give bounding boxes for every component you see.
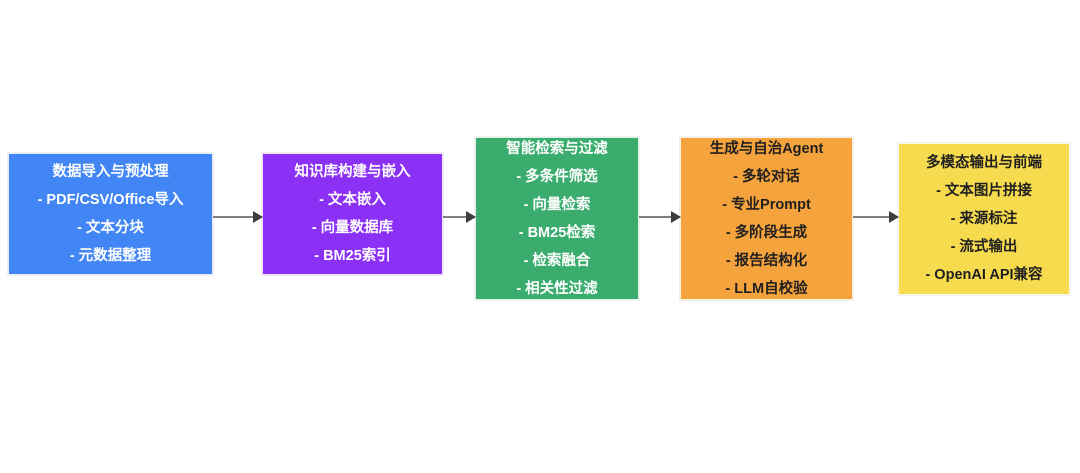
flow-node-multimodal-output[interactable]: 多模态输出与前端- 文本图片拼接- 来源标注- 流式输出- OpenAI API… [898, 143, 1070, 295]
flow-node-title: 数据导入与预处理 [53, 158, 169, 186]
flow-node-item: - 文本图片拼接 [936, 177, 1032, 205]
flow-node-ingest[interactable]: 数据导入与预处理- PDF/CSV/Office导入- 文本分块- 元数据整理 [8, 153, 213, 275]
flow-node-retrieval-filter[interactable]: 智能检索与过滤- 多条件筛选- 向量检索- BM25检索- 检索融合- 相关性过… [475, 137, 639, 300]
flow-node-title: 知识库构建与嵌入 [295, 158, 411, 186]
flow-node-item: - 多轮对话 [733, 163, 800, 191]
flowchart-canvas: 数据导入与预处理- PDF/CSV/Office导入- 文本分块- 元数据整理知… [0, 0, 1080, 473]
arrowhead-icon [889, 211, 899, 223]
flow-node-item: - BM25索引 [314, 242, 391, 270]
flow-node-item: - 向量数据库 [312, 214, 393, 242]
flow-node-item: - 专业Prompt [722, 191, 811, 219]
flow-node-item: - 流式输出 [951, 233, 1018, 261]
flow-arrow-generation-to-output [853, 216, 898, 218]
flow-node-item: - 多条件筛选 [516, 163, 597, 191]
flow-node-knowledge-base[interactable]: 知识库构建与嵌入- 文本嵌入- 向量数据库- BM25索引 [262, 153, 443, 275]
arrowhead-icon [253, 211, 263, 223]
flow-node-item: - 向量检索 [524, 191, 591, 219]
flow-node-generation-agent[interactable]: 生成与自治Agent- 多轮对话- 专业Prompt- 多阶段生成- 报告结构化… [680, 137, 853, 300]
arrowhead-icon [466, 211, 476, 223]
flow-node-item: - OpenAI API兼容 [925, 261, 1042, 289]
flow-arrow-knowledge-base-to-retrieval [443, 216, 475, 218]
flow-node-title: 生成与自治Agent [710, 135, 824, 163]
flow-node-title: 多模态输出与前端 [926, 149, 1042, 177]
flow-node-title: 智能检索与过滤 [506, 135, 608, 163]
flow-node-item: - LLM自校验 [725, 275, 807, 303]
flow-arrow-retrieval-to-generation [639, 216, 680, 218]
flow-node-item: - 文本分块 [77, 214, 144, 242]
arrowhead-icon [671, 211, 681, 223]
flow-node-item: - 来源标注 [951, 205, 1018, 233]
flow-node-item: - BM25检索 [519, 219, 596, 247]
flow-node-item: - 报告结构化 [726, 247, 807, 275]
flow-node-item: - 文本嵌入 [319, 186, 386, 214]
flow-node-item: - 元数据整理 [70, 242, 151, 270]
flow-arrow-ingest-to-knowledge-base [213, 216, 262, 218]
flow-node-item: - 多阶段生成 [726, 219, 807, 247]
flow-node-item: - 检索融合 [524, 247, 591, 275]
flow-node-item: - 相关性过滤 [516, 275, 597, 303]
flow-node-item: - PDF/CSV/Office导入 [38, 186, 184, 214]
